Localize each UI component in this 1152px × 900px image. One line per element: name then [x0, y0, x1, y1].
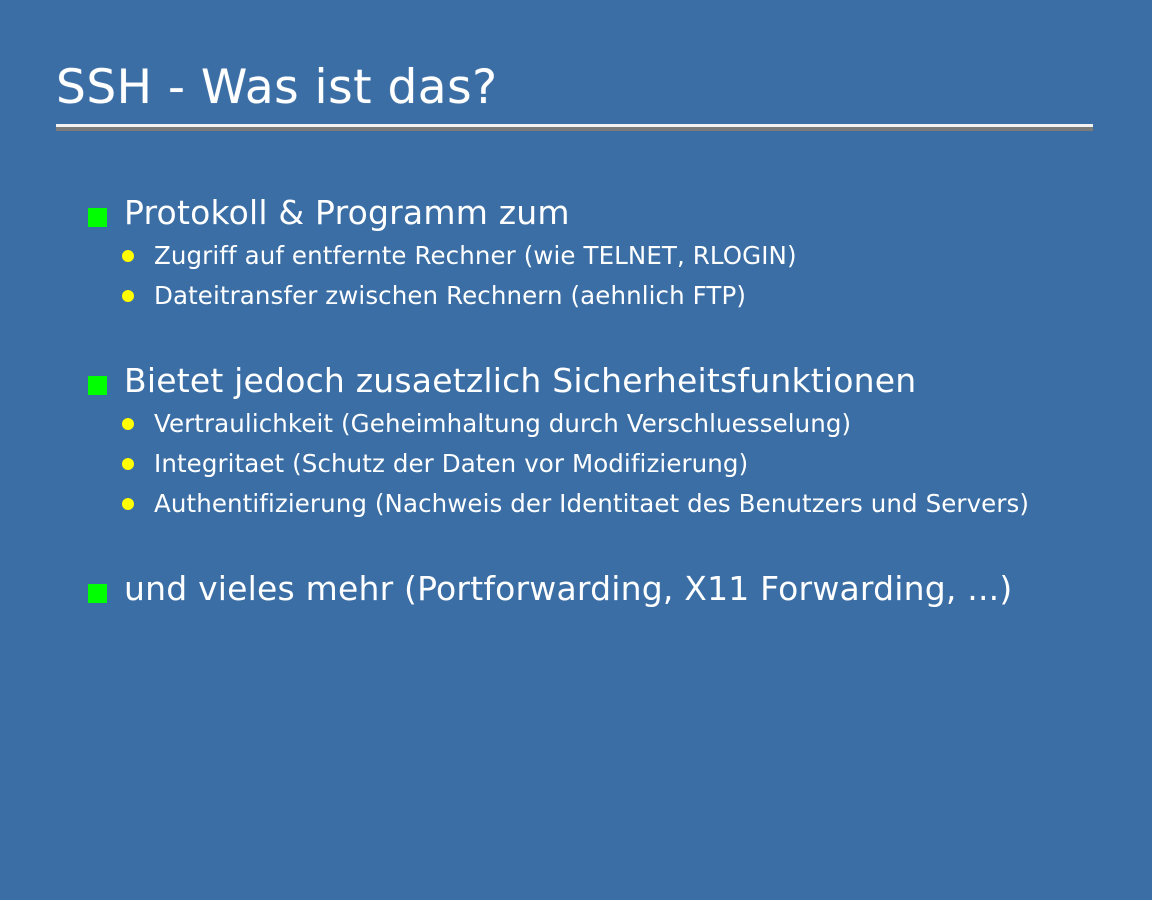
square-bullet-icon — [88, 376, 107, 395]
bullet-level1: Protokoll & Programm zum — [84, 190, 1104, 236]
bullet-level2: Vertraulichkeit (Geheimhaltung durch Ver… — [84, 404, 1104, 444]
square-bullet-icon — [88, 584, 107, 603]
bullet-level2-label: Integritaet (Schutz der Daten vor Modifi… — [154, 444, 1104, 484]
group-spacer — [84, 316, 1104, 358]
group-spacer — [84, 524, 1104, 566]
bullet-group: und vieles mehr (Portforwarding, X11 For… — [84, 566, 1104, 612]
bullet-level2-label: Vertraulichkeit (Geheimhaltung durch Ver… — [154, 404, 1104, 444]
bullet-level1-label: Protokoll & Programm zum — [124, 190, 1104, 235]
bullet-level2-label: Dateitransfer zwischen Rechnern (aehnlic… — [154, 276, 1104, 316]
slide-title-block: SSH - Was ist das? — [56, 58, 1096, 118]
slide-content-body: Protokoll & Programm zum Zugriff auf ent… — [84, 190, 1104, 612]
bullet-group: Bietet jedoch zusaetzlich Sicherheitsfun… — [84, 358, 1104, 524]
bullet-level2: Integritaet (Schutz der Daten vor Modifi… — [84, 444, 1104, 484]
bullet-level1-label: Bietet jedoch zusaetzlich Sicherheitsfun… — [124, 358, 1104, 403]
dot-bullet-icon — [122, 458, 134, 470]
title-divider — [56, 124, 1093, 131]
bullet-level1: Bietet jedoch zusaetzlich Sicherheitsfun… — [84, 358, 1104, 404]
bullet-level2: Zugriff auf entfernte Rechner (wie TELNE… — [84, 236, 1104, 276]
presentation-slide: SSH - Was ist das? Protokoll & Programm … — [0, 0, 1152, 900]
bullet-group: Protokoll & Programm zum Zugriff auf ent… — [84, 190, 1104, 316]
bullet-level2-label: Zugriff auf entfernte Rechner (wie TELNE… — [154, 236, 1104, 276]
square-bullet-icon — [88, 208, 107, 227]
page-title: SSH - Was ist das? — [56, 58, 1096, 118]
dot-bullet-icon — [122, 418, 134, 430]
bullet-level1: und vieles mehr (Portforwarding, X11 For… — [84, 566, 1104, 612]
bullet-level2: Dateitransfer zwischen Rechnern (aehnlic… — [84, 276, 1104, 316]
dot-bullet-icon — [122, 498, 134, 510]
bullet-level1-label: und vieles mehr (Portforwarding, X11 For… — [124, 566, 1104, 611]
dot-bullet-icon — [122, 290, 134, 302]
title-divider-shadow — [56, 127, 1093, 131]
bullet-level2: Authentifizierung (Nachweis der Identita… — [84, 484, 1104, 524]
bullet-level2-label: Authentifizierung (Nachweis der Identita… — [154, 484, 1104, 524]
dot-bullet-icon — [122, 250, 134, 262]
